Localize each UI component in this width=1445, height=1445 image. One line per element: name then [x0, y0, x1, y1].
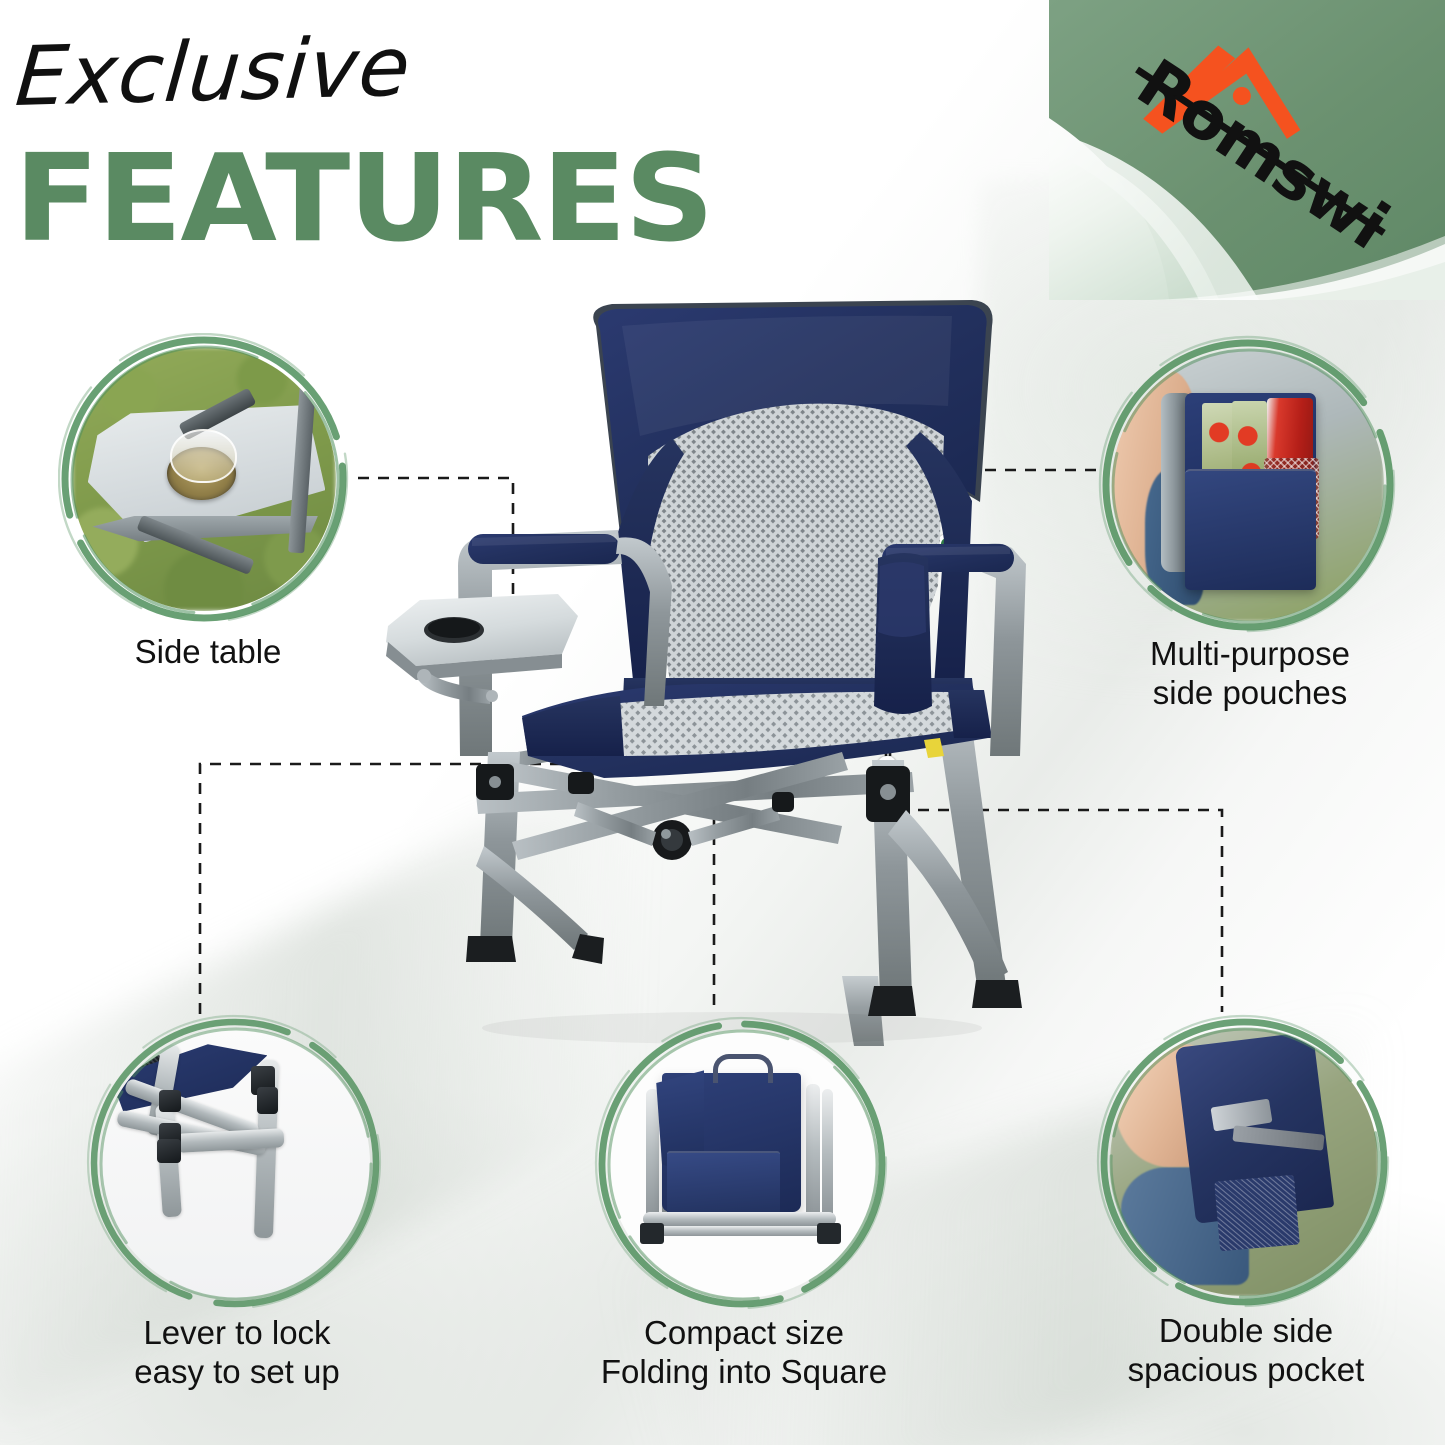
- feature-caption: Compact size Folding into Square: [592, 1314, 896, 1392]
- feature-caption: Lever to lock easy to set up: [84, 1314, 390, 1392]
- side-pocket-photo: [1110, 1028, 1378, 1296]
- heading-script: Exclusive: [12, 20, 414, 125]
- infographic-canvas: Romswi Exclusive FEATURES: [0, 0, 1445, 1445]
- feature-caption: Side table: [58, 633, 358, 672]
- feature-caption: Double side spacious pocket: [1094, 1312, 1398, 1390]
- lever-lock-photo: [100, 1028, 370, 1298]
- page-title: FEATURES: [14, 140, 712, 260]
- side-pouches-photo: [1112, 349, 1384, 621]
- brand-banner: Romswi: [1049, 0, 1445, 300]
- side-table-photo: [72, 347, 336, 611]
- product-chair-image: [372, 286, 1052, 1046]
- feature-caption: Multi-purpose side pouches: [1096, 635, 1404, 713]
- folded-chair-photo: [608, 1030, 876, 1298]
